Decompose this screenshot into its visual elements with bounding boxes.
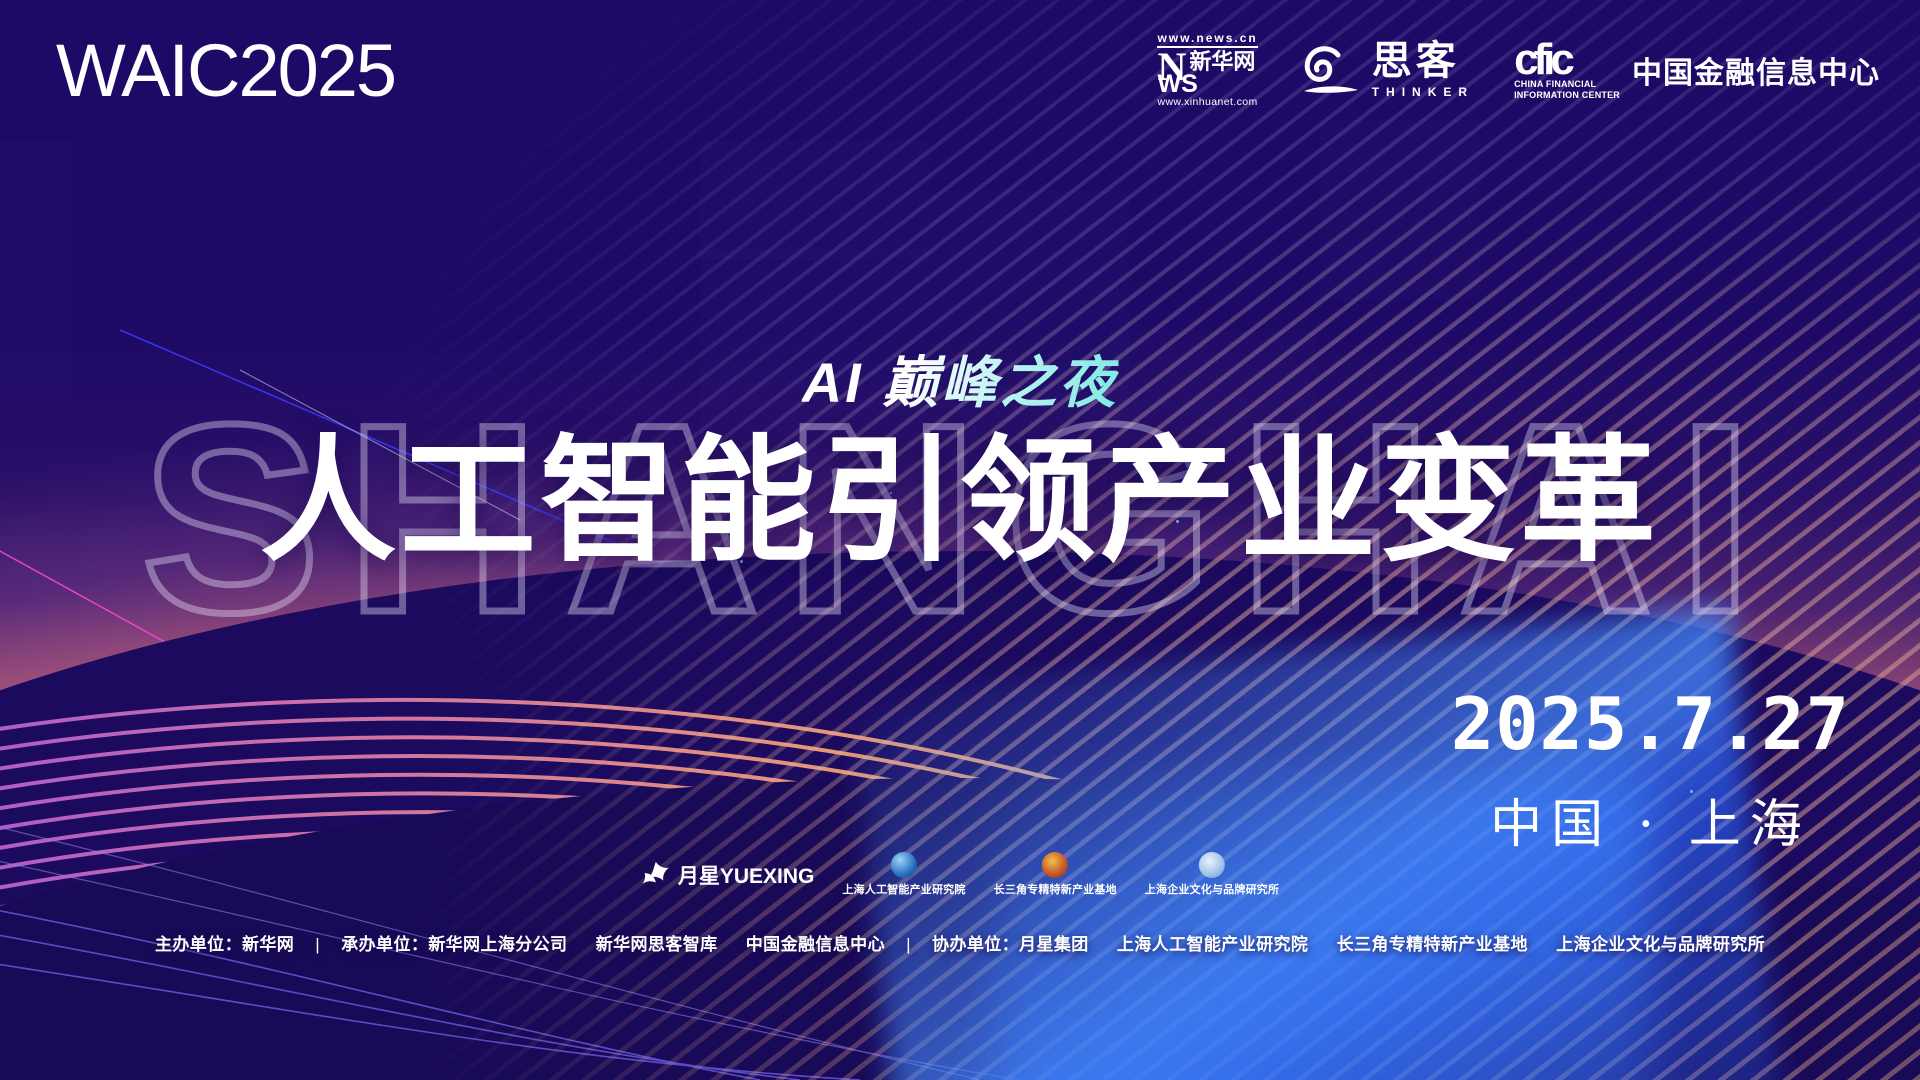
- credits-organizer: 承办单位：新华网上海分公司: [341, 935, 567, 954]
- globe-icon: [891, 852, 917, 878]
- event-headline: 人工智能引领产业变革: [260, 428, 1660, 575]
- sponsor-yrd-base: 长三角专精特新产业基地: [994, 852, 1117, 897]
- thinker-text-block: 思客 THINKER: [1372, 41, 1474, 99]
- credits-organizer-2: 新华网思客智库: [596, 935, 718, 954]
- credits-coorganizer-3: 长三角专精特新产业基地: [1337, 935, 1528, 954]
- event-subtitle: AI 巅峰之夜: [802, 338, 1119, 419]
- yuexing-star-icon: [641, 860, 671, 890]
- sponsor-logo-strip: 月星YUEXING 上海人工智能产业研究院 长三角专精特新产业基地 上海企业文化…: [641, 852, 1279, 897]
- sponsor-label: 上海人工智能产业研究院: [842, 881, 965, 897]
- credits-coorganizer: 协办单位：月星集团: [932, 935, 1089, 954]
- sponsor-yuexing: 月星YUEXING: [641, 860, 815, 890]
- credits-coorganizer-2: 上海人工智能产业研究院: [1117, 935, 1308, 954]
- credits-line: 主办单位：新华网 | 承办单位：新华网上海分公司 新华网思客智库 中国金融信息中…: [155, 930, 1765, 955]
- thinker-cn-name: 思客: [1372, 41, 1474, 81]
- waic-logo: WAIC2025: [56, 34, 395, 108]
- xinhuanet-logo: www.news.cn N 新华网 WS www.xinhuanet.com: [1157, 32, 1257, 108]
- date-place-block: 2025.7.27 中国 · 上海: [1451, 688, 1850, 857]
- credits-separator-2: |: [890, 935, 927, 955]
- credits-separator-1: |: [299, 935, 336, 955]
- cfic-cn-name: 中国金融信息中心: [1632, 48, 1880, 92]
- cfic-en-line2: INFORMATION CENTER: [1514, 90, 1620, 100]
- event-place: 中国 · 上海: [1451, 782, 1850, 857]
- xinhuanet-cn-name: 新华网: [1189, 51, 1255, 73]
- sponsor-label: 长三角专精特新产业基地: [994, 881, 1117, 897]
- thinker-logo: 思客 THINKER: [1298, 41, 1474, 99]
- cfic-mark-block: cfic CHINA FINANCIAL INFORMATION CENTER: [1514, 40, 1620, 100]
- header-partner-logos: www.news.cn N 新华网 WS www.xinhuanet.com 思…: [1157, 32, 1880, 108]
- cfic-logo: cfic CHINA FINANCIAL INFORMATION CENTER …: [1514, 40, 1880, 100]
- waic-logo-text: WAIC2025: [56, 34, 395, 108]
- cfic-wordmark: cfic: [1514, 40, 1620, 80]
- cfic-en-name: CHINA FINANCIAL INFORMATION CENTER: [1514, 79, 1620, 100]
- sponsor-brand-institute: 上海企业文化与品牌研究所: [1145, 852, 1279, 897]
- xinhuanet-letters-ws: WS: [1157, 74, 1197, 95]
- sponsor-saii: 上海人工智能产业研究院: [842, 852, 965, 897]
- cfic-en-line1: CHINA FINANCIAL: [1514, 79, 1620, 89]
- thinker-spiral-icon: [1298, 41, 1362, 99]
- sponsor-label: 月星YUEXING: [678, 860, 815, 890]
- credits-coorganizer-4: 上海企业文化与品牌研究所: [1556, 935, 1765, 954]
- thinker-en-name: THINKER: [1372, 85, 1474, 99]
- xinhuanet-url-bottom: www.xinhuanet.com: [1157, 97, 1257, 108]
- event-date: 2025.7.27: [1451, 688, 1850, 760]
- xinhuanet-url-top: www.news.cn: [1157, 32, 1257, 44]
- event-poster: SHANGHAI WAIC2025 www.news.cn N 新华网 WS w…: [0, 0, 1920, 1080]
- credits-organizer-3: 中国金融信息中心: [746, 935, 885, 954]
- sponsor-label: 上海企业文化与品牌研究所: [1145, 881, 1279, 897]
- emblem-icon: [1042, 852, 1068, 878]
- credits-host: 主办单位：新华网: [155, 935, 294, 954]
- seal-icon: [1199, 852, 1225, 878]
